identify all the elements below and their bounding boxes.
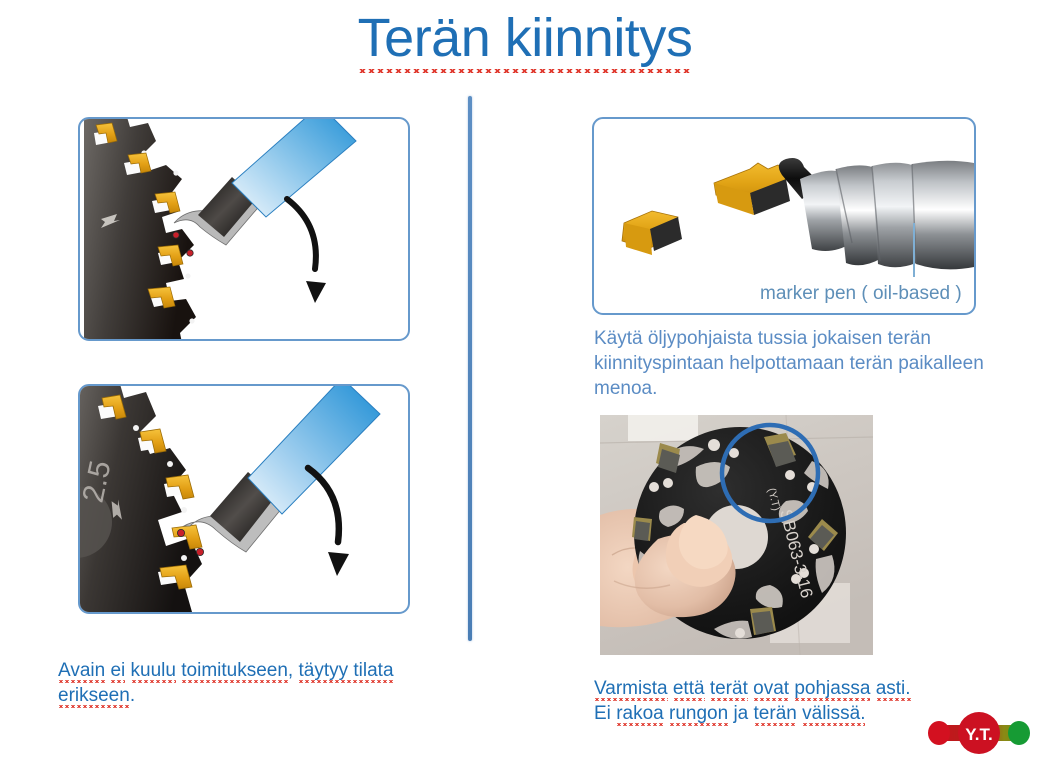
blade-hole [189,318,194,323]
rotation-arrow [308,468,349,576]
misspelled-word: rakoa [616,703,664,727]
marker-pen-illustration: marker pen ( oil-based ) [594,119,974,313]
wrench-note-text: Avain ei kuulu toimitukseen, täytyy tila… [58,658,448,708]
misspelled-word: että [673,678,705,702]
marker-instruction-line-1: Käytä öljypohjaista tussia jokaisen terä… [594,326,1006,351]
photo-content: SB063-3-16 (Y.T) [600,415,873,655]
blade-hole [181,555,187,561]
carbide-insert-small [622,211,682,255]
misspelled-word: Varmista [594,678,668,702]
marker-instruction-text: Käytä öljypohjaista tussia jokaisen terä… [594,326,1006,401]
text-segment [870,678,875,699]
blade-wrench-illustration-close: 2.5 [80,386,408,612]
blade-in-hand-photo: SB063-3-16 (Y.T) [600,415,873,655]
page-title: Terän kiinnitys [0,6,1050,70]
wrench-note-line-2: erikseen. [58,683,448,708]
rotation-arrow [287,199,326,303]
panel-blade-wrench-wide [78,117,410,341]
seat-note-line-2: Ei rakoa rungon ja terän välissä. [594,701,954,726]
screw-marker [177,529,184,536]
screw-marker [196,548,203,555]
misspelled-word: terät [710,678,748,702]
blade-hole [185,273,190,278]
seat-note-line-1: Varmista että terät ovat pohjassa asti. [594,676,954,701]
text-segment: . [130,685,135,706]
blade-wrench-illustration-wide [80,119,408,339]
text-segment: , [288,660,299,681]
misspelled-word: ovat [753,678,789,702]
misspelled-word: ei [110,660,125,684]
marker-instruction-line-3: menoa. [594,376,1006,401]
marker-pen [779,158,974,269]
misspelled-word: pohjassa [794,678,870,702]
misspelled-word: terän [754,703,797,727]
panel-blade-wrench-close: 2.5 [78,384,410,614]
blade-hole [133,425,139,431]
logo-text: Y.T. [965,725,992,744]
logo-right-ellipse [1008,721,1030,745]
wrench-note-line-1: Avain ei kuulu toimitukseen, täytyy tila… [58,658,448,683]
marker-pen-caption: marker pen ( oil-based ) [760,283,962,304]
misspelled-word: Avain [58,660,105,684]
screw-marker [173,232,179,238]
blade-body [84,119,196,339]
marker-instruction-line-2: kiinnityspintaan helpottamaan terän paik… [594,351,1006,376]
text-segment: ja [728,703,753,724]
vertical-divider [468,96,472,641]
wrench-handle [248,386,380,514]
company-logo: Y.T. [925,708,1033,758]
blade-hole [167,461,173,467]
page-title-text: Terän kiinnitys [358,8,693,74]
blade-hole [173,170,178,175]
logo-yt: Y.T. [925,708,1033,758]
text-segment [125,660,130,681]
misspelled-word: asti. [876,678,911,702]
text-segment: Ei [594,703,616,724]
blade-hole [181,507,187,513]
misspelled-word: kuulu [131,660,176,684]
misspelled-word: välissä. [802,703,865,727]
screw-marker [187,250,193,256]
misspelled-word: toimitukseen [181,660,288,684]
logo-left-ellipse [928,721,950,745]
misspelled-word: rungon [669,703,728,727]
seat-note-text: Varmista että terät ovat pohjassa asti. … [594,676,954,726]
presentation-slide: Terän kiinnitys [0,0,1050,769]
misspelled-word: täytyy tilata [298,660,393,684]
misspelled-word: erikseen [58,685,130,709]
carbide-insert-large [714,163,790,215]
panel-marker-pen: marker pen ( oil-based ) [592,117,976,315]
